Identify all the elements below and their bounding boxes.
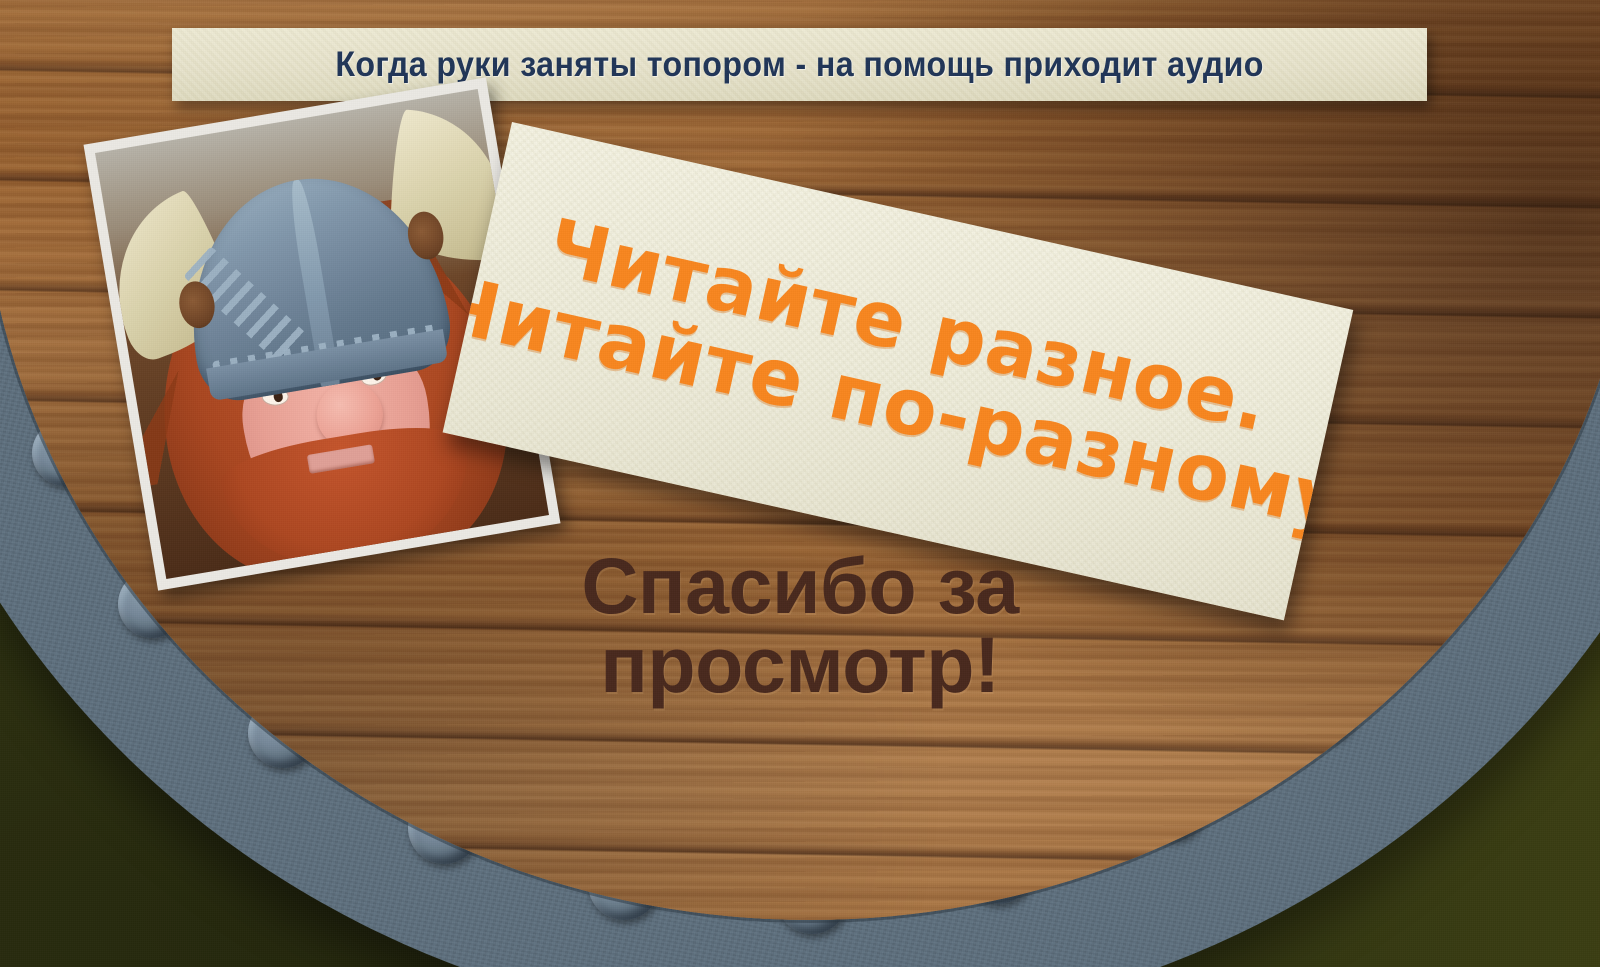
header-banner: Когда руки заняты топором - на помощь пр… [172,28,1427,101]
slide-canvas: Когда руки заняты топором - на помощь пр… [0,0,1600,967]
